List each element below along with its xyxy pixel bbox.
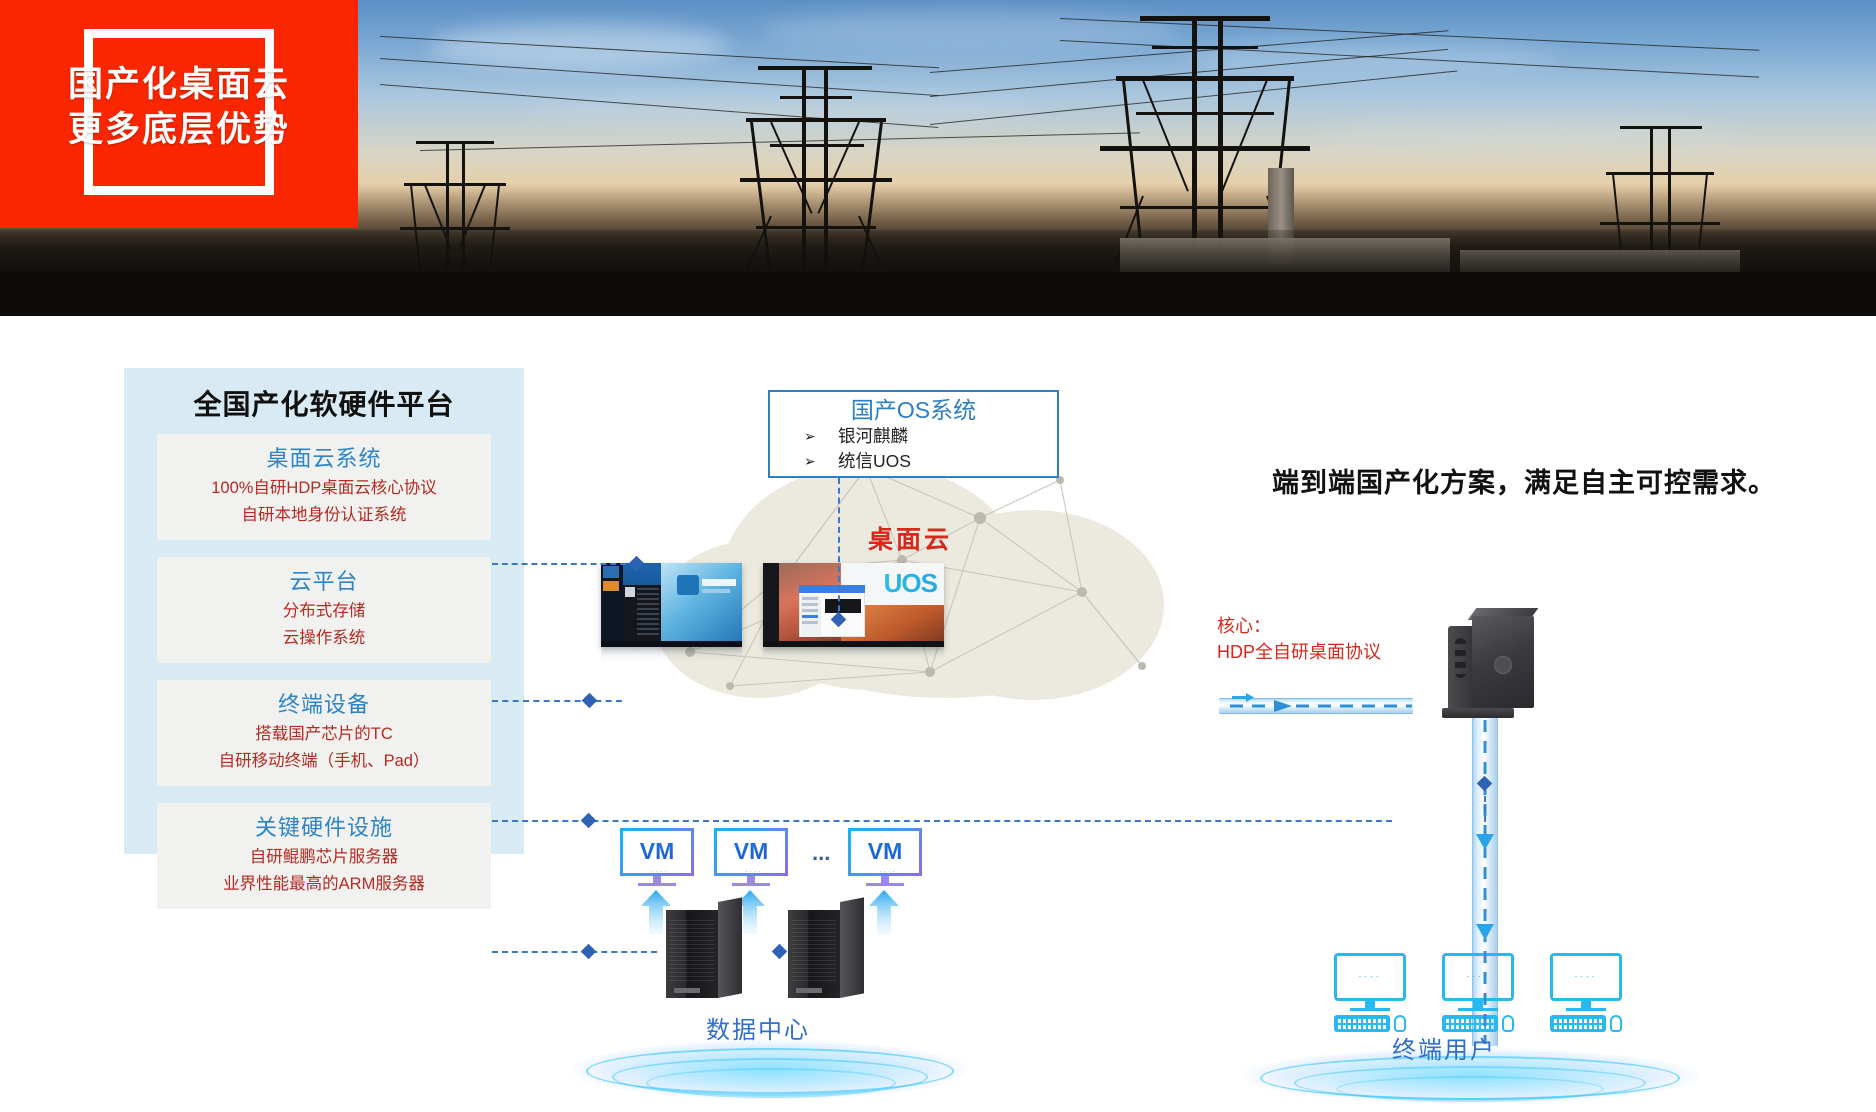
domestic-os-title: 国产OS系统 [770,392,1057,424]
core-note-line1: 核心： [1217,613,1381,639]
vm-stand [714,876,788,888]
badge-title-line2: 更多底层优势 [0,107,358,152]
badge-title-line1: 国产化桌面云 [0,62,358,107]
platform-card-line: 搭载国产芯片的TC [163,721,485,748]
vm-ellipsis: ... [812,840,830,866]
server-rack [788,910,868,1008]
platform-card-line: 自研移动终端（手机、Pad） [163,748,485,775]
datacenter-label: 数据中心 [706,1010,810,1045]
platform-card-line: 100%自研HDP桌面云核心协议 [163,475,485,502]
hero-banner: 国产化桌面云 更多底层优势 [0,0,1876,316]
os-list-item-label: 统信UOS [838,449,911,474]
pipe-flow-down-arrows [1472,716,1498,1046]
terminal-users-label: 终端用户 [1392,1030,1496,1065]
core-note-line2: HDP全自研桌面协议 [1217,639,1381,665]
platform-card[interactable]: 云平台 分布式存储 云操作系统 [157,557,491,663]
platform-card-line: 云操作系统 [163,625,485,652]
vm-stand [848,876,922,888]
vm-node[interactable]: VM .... [714,828,788,876]
platform-card-line: 分布式存储 [163,598,485,625]
platform-card[interactable]: 关键硬件设施 自研鲲鹏芯片服务器 业界性能最高的ARM服务器 [157,803,491,909]
badge-title: 国产化桌面云 更多底层优势 [0,62,358,152]
os-list-item-label: 银河麒麟 [838,424,908,449]
vm-stand [620,876,694,888]
connector-node [772,944,788,960]
connector-node [581,944,597,960]
platform-card-title: 终端设备 [163,688,485,721]
connector-node [581,813,597,829]
platform-card-title: 云平台 [163,565,485,598]
platform-card-title: 关键硬件设施 [163,811,485,844]
os-list-item[interactable]: ➢ 银河麒麟 [770,424,1057,449]
slide-canvas: 国产化桌面云 更多底层优势 全国产化软硬件平台 桌面云系统 100%自研HDP桌… [0,0,1876,1090]
platform-card-line: 自研鲲鹏芯片服务器 [163,844,485,871]
platform-card-line: 自研本地身份认证系统 [163,502,485,529]
kylin-desktop-screenshot [601,563,742,647]
cloud-label: 桌面云 [630,520,1190,556]
platform-panel-title: 全国产化软硬件平台 [124,368,524,423]
datacenter-platform [560,1040,980,1110]
solution-headline: 端到端国产化方案，满足自主可控需求。 [1272,461,1776,500]
os-list-item[interactable]: ➢ 统信UOS [770,449,1057,474]
vm-node[interactable]: VM .... [620,828,694,876]
bullet-arrow-icon: ➢ [804,424,838,449]
platform-card[interactable]: 终端设备 搭载国产芯片的TC 自研移动终端（手机、Pad） [157,680,491,786]
pipe-flow-arrows [1222,692,1422,718]
core-protocol-note: 核心： HDP全自研桌面协议 [1217,613,1381,665]
platform-panel: 全国产化软硬件平台 桌面云系统 100%自研HDP桌面云核心协议 自研本地身份认… [124,368,524,854]
platform-card-title: 桌面云系统 [163,442,485,475]
domestic-os-box[interactable]: 国产OS系统 ➢ 银河麒麟 ➢ 统信UOS [768,390,1059,478]
platform-card[interactable]: 桌面云系统 100%自研HDP桌面云核心协议 自研本地身份认证系统 [157,434,491,540]
bullet-arrow-icon: ➢ [804,449,838,474]
server-rack [666,910,746,1008]
connector-node [582,693,598,709]
platform-card-list: 桌面云系统 100%自研HDP桌面云核心协议 自研本地身份认证系统 云平台 分布… [124,434,524,909]
platform-card-line: 业界性能最高的ARM服务器 [163,871,485,898]
vm-node[interactable]: VM .... [848,828,922,876]
uos-desktop-screenshot: UOS [763,563,944,647]
up-arrow-icon [868,890,900,934]
thin-client-device [1448,616,1540,720]
